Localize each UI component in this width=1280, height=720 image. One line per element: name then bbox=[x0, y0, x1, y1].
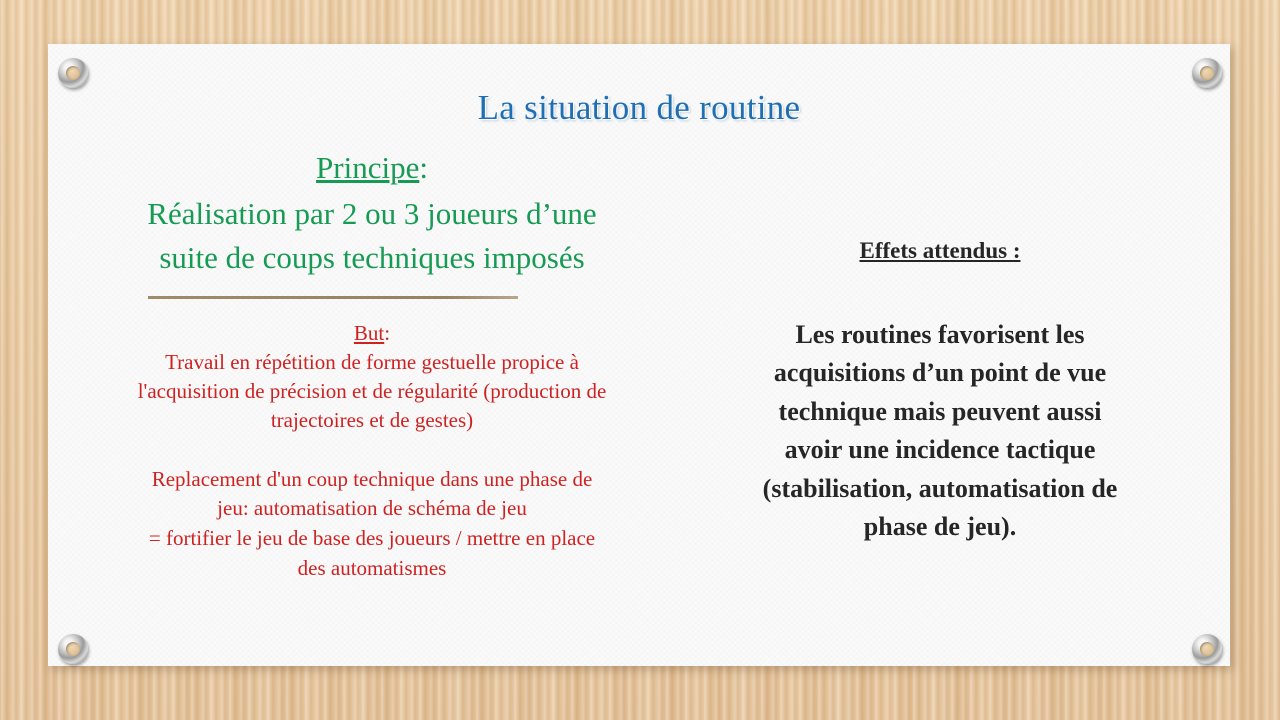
principe-line-2: suite de coups techniques imposés bbox=[72, 236, 672, 280]
principe-heading: Principe: bbox=[72, 148, 672, 188]
principe-colon: : bbox=[419, 150, 428, 185]
but-colon: : bbox=[384, 321, 390, 345]
replacement-block: Replacement d'un coup technique dans une… bbox=[72, 465, 672, 584]
grommet-top-left-icon bbox=[58, 58, 88, 88]
but-block: But: Travail en répétition de forme gest… bbox=[72, 319, 672, 435]
replacement-line-1: Replacement d'un coup technique dans une… bbox=[72, 465, 672, 495]
grommet-bottom-left-icon bbox=[58, 634, 88, 664]
grommet-bottom-right-icon bbox=[1192, 634, 1222, 664]
left-column: Principe: Réalisation par 2 ou 3 joueurs… bbox=[72, 148, 672, 584]
section-divider-rule bbox=[148, 296, 518, 299]
replacement-line-4: des automatismes bbox=[72, 554, 672, 584]
but-line-1: Travail en répétition de forme gestuelle… bbox=[72, 348, 672, 377]
effets-line-1: Les routines favorisent les bbox=[700, 316, 1180, 354]
effets-attendus-body: Les routines favorisent les acquisitions… bbox=[700, 316, 1180, 547]
right-column: Effets attendus : Les routines favorisen… bbox=[700, 236, 1180, 547]
principe-line-1: Réalisation par 2 ou 3 joueurs d’une bbox=[72, 192, 672, 236]
but-line-2: l'acquisition de précision et de régular… bbox=[72, 377, 672, 406]
effets-attendus-heading: Effets attendus : bbox=[700, 236, 1180, 266]
but-label: But bbox=[354, 321, 384, 345]
effets-line-5: (stabilisation, automatisation de bbox=[700, 470, 1180, 508]
but-heading: But: bbox=[72, 319, 672, 348]
principe-label: Principe bbox=[316, 150, 419, 185]
effets-line-2: acquisitions d’un point de vue bbox=[700, 354, 1180, 392]
replacement-line-2: jeu: automatisation de schéma de jeu bbox=[72, 494, 672, 524]
principe-body: Réalisation par 2 ou 3 joueurs d’une sui… bbox=[72, 192, 672, 280]
grommet-top-right-icon bbox=[1192, 58, 1222, 88]
effets-line-6: phase de jeu). bbox=[700, 508, 1180, 546]
effets-line-4: avoir une incidence tactique bbox=[700, 431, 1180, 469]
replacement-line-3: = fortifier le jeu de base des joueurs /… bbox=[72, 524, 672, 554]
slide-root: La situation de routine Principe: Réalis… bbox=[0, 0, 1280, 720]
effets-line-3: technique mais peuvent aussi bbox=[700, 393, 1180, 431]
but-line-3: trajectoires et de gestes) bbox=[72, 406, 672, 435]
slide-title: La situation de routine bbox=[48, 88, 1230, 128]
